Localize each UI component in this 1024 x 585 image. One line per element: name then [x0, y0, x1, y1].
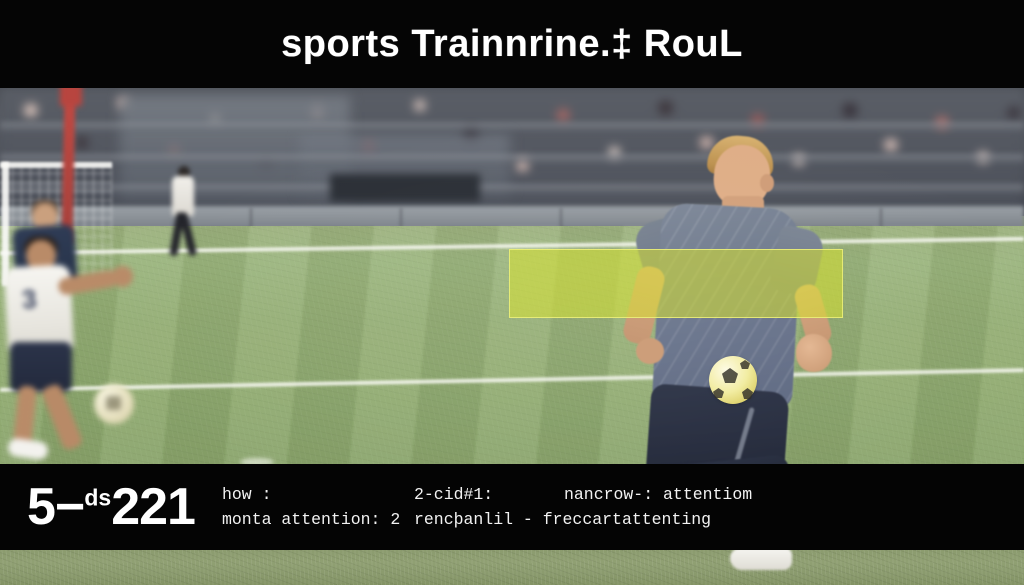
caption-row-2: monta attention: 2 rencþanlil - freccart… — [222, 510, 1012, 529]
page-title: sports Trainnrine.‡ RouL — [281, 23, 743, 66]
detection-highlight-box[interactable] — [509, 249, 843, 318]
caption-r2-c1: monta attention: 2 — [222, 510, 414, 529]
caption-r1-c2: 2-cid#1: — [414, 485, 564, 504]
big-number: 5−ds221 — [0, 481, 222, 533]
runner-ear — [760, 174, 774, 192]
caption-bar: 5−ds221 how : 2-cid#1: nancrow-: attenti… — [0, 464, 1024, 550]
caption-columns: how : 2-cid#1: nancrow-: attentiom monta… — [222, 485, 1024, 529]
caption-r2-c2: rencþanlil - freccart — [414, 510, 622, 529]
bottom-grass-strip — [0, 550, 1024, 585]
caption-r2-c3: attenting — [622, 510, 1012, 529]
screenshot-root: sports Trainnrine.‡ RouL — [0, 0, 1024, 585]
runner-hand-right — [796, 334, 832, 372]
big-number-suffix: 221 — [111, 478, 195, 536]
big-number-superscript: ds — [84, 485, 111, 511]
big-number-prefix: 5− — [27, 478, 84, 536]
caption-r1-c1: how : — [222, 485, 414, 504]
runner-hand-left — [636, 338, 664, 364]
bottom-strip-shoe — [730, 548, 792, 570]
caption-r1-c3: nancrow-: attentiom — [564, 485, 1012, 504]
caption-row-1: how : 2-cid#1: nancrow-: attentiom — [222, 485, 1012, 504]
title-bar: sports Trainnrine.‡ RouL — [0, 0, 1024, 88]
